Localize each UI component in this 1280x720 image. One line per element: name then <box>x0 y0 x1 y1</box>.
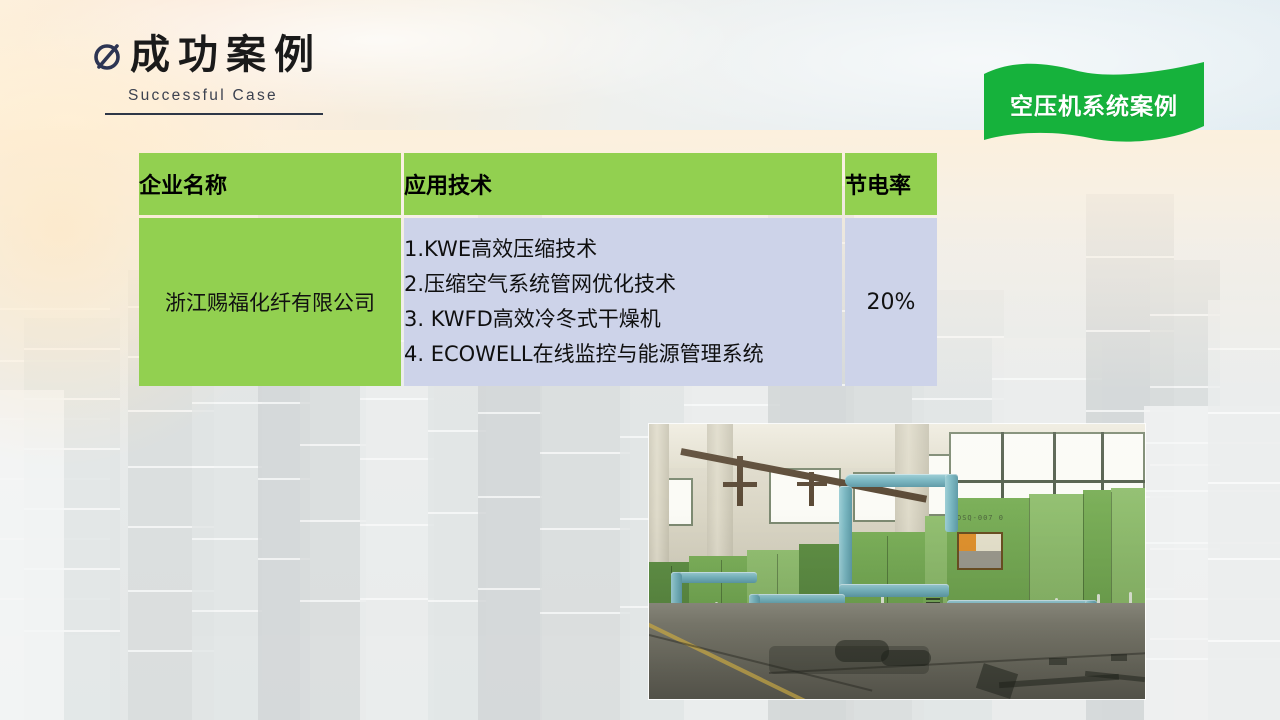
table-header-technology: 应用技术 <box>404 153 842 215</box>
page-title-en: Successful Case <box>128 87 323 105</box>
page-title: 成功案例 Successful Case <box>92 34 323 115</box>
ribbon-badge: 空压机系统案例 <box>978 60 1210 146</box>
technology-item: 2.压缩空气系统管网优化技术 <box>404 267 842 302</box>
slide: 成功案例 Successful Case 空压机系统案例 企业名称 应用技术 节… <box>0 0 1280 720</box>
title-underline <box>105 113 323 115</box>
ribbon-label: 空压机系统案例 <box>978 60 1210 146</box>
compressor-room-photo: KWE ecowell DSQ-007 0 ecowell <box>649 424 1145 699</box>
technology-item: 1.KWE高效压缩技术 <box>404 232 842 267</box>
table-row: 浙江赐福化纤有限公司 1.KWE高效压缩技术 2.压缩空气系统管网优化技术 3.… <box>139 218 937 386</box>
case-table: 企业名称 应用技术 节电率 浙江赐福化纤有限公司 1.KWE高效压缩技术 2.压… <box>136 150 940 389</box>
cell-company-name: 浙江赐福化纤有限公司 <box>139 218 401 386</box>
cell-saving-rate: 20% <box>845 218 937 386</box>
cell-technologies: 1.KWE高效压缩技术 2.压缩空气系统管网优化技术 3. KWFD高效冷冬式干… <box>404 218 842 386</box>
page-title-cn: 成功案例 <box>130 34 322 76</box>
table-header-company: 企业名称 <box>139 153 401 215</box>
technology-item: 4. ECOWELL在线监控与能源管理系统 <box>404 337 842 372</box>
table-header-saving-rate: 节电率 <box>845 153 937 215</box>
table-header-row: 企业名称 应用技术 节电率 <box>139 153 937 215</box>
diameter-slash-icon <box>92 41 124 73</box>
technology-item: 3. KWFD高效冷冬式干燥机 <box>404 302 842 337</box>
